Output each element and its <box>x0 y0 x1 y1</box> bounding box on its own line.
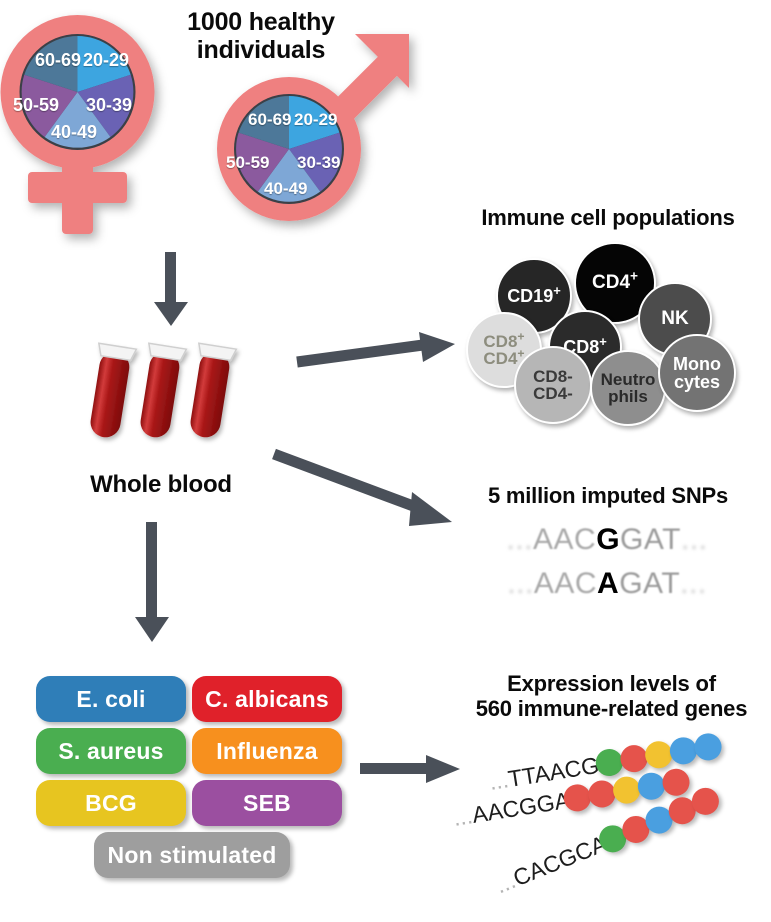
arrow-stimuli-to-expression <box>360 752 465 788</box>
stimulus-chip-influenza[interactable]: Influenza <box>192 728 342 774</box>
snp-suffix-dots: ... <box>681 523 708 557</box>
snp-right-bases: GAT <box>620 523 681 557</box>
immune-cell-cluster: CD19+CD4+NKCD8+CD4+CD8+CD8-CD4-Neutrophi… <box>466 236 766 416</box>
immune-cell-label: CD8+CD4+ <box>483 333 524 368</box>
stimulus-chip-seb[interactable]: SEB <box>192 780 342 826</box>
stimuli-panel: E. coliC. albicansS. aureusInfluenzaBCGS… <box>36 676 336 896</box>
expression-title: Expression levels of 560 immune-related … <box>452 672 771 721</box>
stimulus-chip-non-stimulated[interactable]: Non stimulated <box>94 832 290 878</box>
snp-left-bases: AAC <box>533 523 596 557</box>
snp-variant-base: A <box>597 567 619 601</box>
stimulus-chip-bcg[interactable]: BCG <box>36 780 186 826</box>
snp-suffix-dots: ... <box>680 567 707 601</box>
expression-title-line1: Expression levels of <box>452 672 771 697</box>
immune-cell-label: Monocytes <box>673 355 721 392</box>
arrow-cohort-to-blood <box>151 252 191 328</box>
immune-cell-title: Immune cell populations <box>458 206 758 231</box>
immune-cell-monocytes[interactable]: Monocytes <box>658 334 736 412</box>
arrow-blood-to-immune <box>295 330 460 380</box>
stimulus-chip-c-albicans[interactable]: C. albicans <box>192 676 342 722</box>
stimulus-label: Influenza <box>216 738 317 765</box>
snp-sequence-row: ...AACAGAT... <box>472 567 742 601</box>
snp-prefix-dots: ... <box>507 567 534 601</box>
stimulus-label: Non stimulated <box>108 842 277 869</box>
immune-cell-neutrophils[interactable]: Neutrophils <box>590 350 666 426</box>
stimulus-label: E. coli <box>76 686 145 713</box>
arrow-blood-to-snps <box>272 448 462 538</box>
stimulus-label: SEB <box>243 790 291 817</box>
stimulus-label: C. albicans <box>205 686 329 713</box>
arrow-blood-to-stimuli <box>132 522 172 644</box>
immune-cell-label: CD8-CD4- <box>533 368 573 403</box>
male-age-pie <box>236 96 342 202</box>
stimulus-label: BCG <box>85 790 137 817</box>
immune-cell-label: NK <box>661 309 688 328</box>
blood-tubes <box>88 340 258 460</box>
snp-left-bases: AAC <box>534 567 597 601</box>
whole-blood-label: Whole blood <box>76 472 246 499</box>
gene-expression-strands: ...TTAACGG...AACGGAT...CACGCAA <box>452 725 771 915</box>
snp-sequence-row: ...AACGGAT... <box>472 523 742 557</box>
male-gender-symbol: 20-29 30-39 40-49 50-59 60-69 <box>203 22 431 242</box>
female-age-pie <box>22 36 134 148</box>
immune-cell-cd8-cd4[interactable]: CD8-CD4- <box>514 346 592 424</box>
snp-right-bases: GAT <box>619 567 680 601</box>
immune-cell-label: Neutrophils <box>601 371 656 406</box>
stimulus-chip-s-aureus[interactable]: S. aureus <box>36 728 186 774</box>
snp-variant-base: G <box>596 523 620 557</box>
female-gender-symbol: 20-29 30-39 40-49 50-59 60-69 <box>0 4 210 244</box>
stimulus-chip-e-coli[interactable]: E. coli <box>36 676 186 722</box>
snps-title: 5 million imputed SNPs <box>458 484 758 509</box>
immune-cell-label: CD4+ <box>592 273 638 292</box>
immune-cell-label: CD19+ <box>507 287 561 305</box>
expression-title-line2: 560 immune-related genes <box>452 697 771 722</box>
snp-prefix-dots: ... <box>506 523 533 557</box>
figure-canvas: 1000 healthy individuals <box>0 0 771 922</box>
snp-sequences: ...AACGGAT... ...AACAGAT... <box>472 523 742 613</box>
stimulus-label: S. aureus <box>58 738 163 765</box>
gene-bead <box>693 731 724 762</box>
